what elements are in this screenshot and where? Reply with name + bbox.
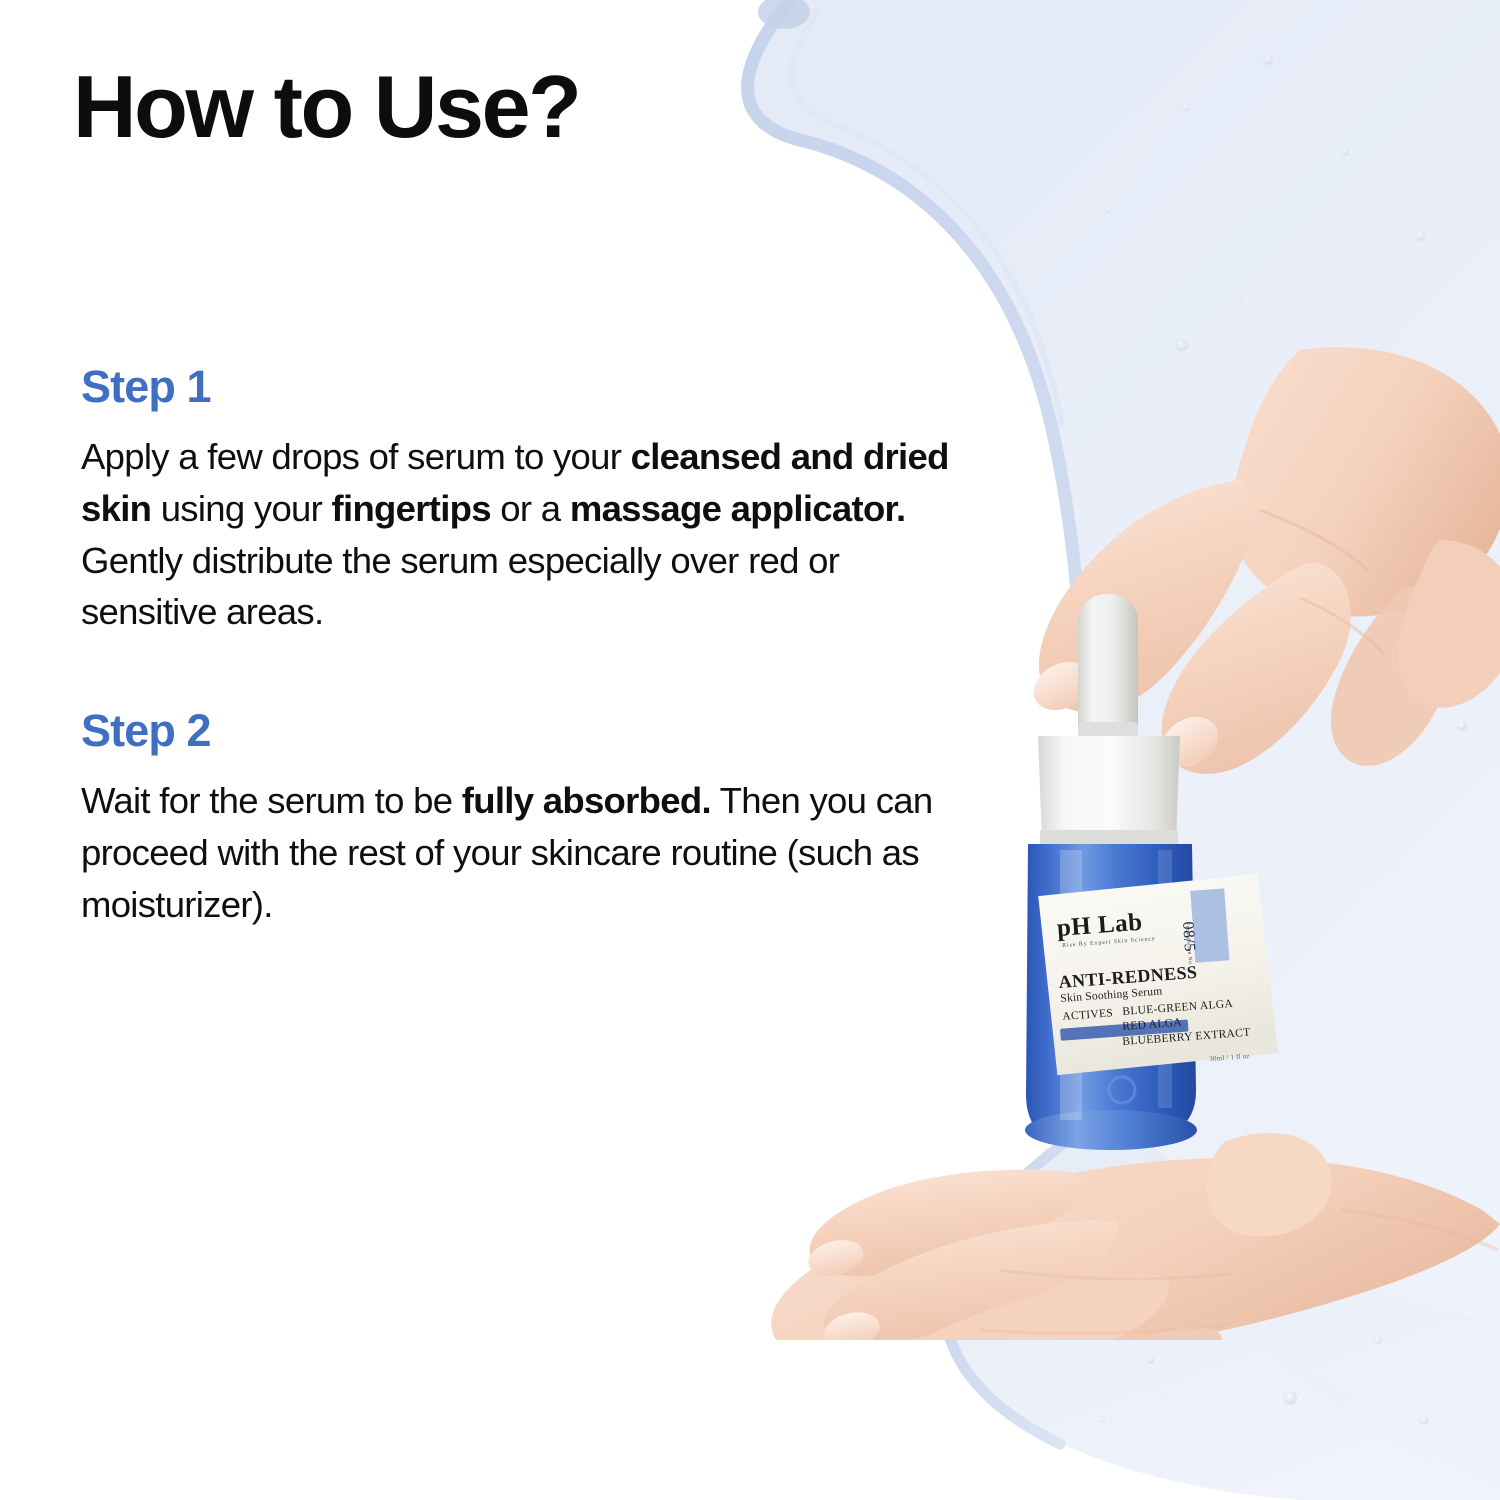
bottle-base (1025, 1110, 1197, 1150)
body-text: or a (491, 488, 570, 529)
infographic-canvas: How to Use? Step 1 Apply a few drops of … (0, 0, 1500, 1500)
lower-hand (771, 1133, 1500, 1340)
emphasized-text: fully absorbed. (462, 780, 711, 821)
label-batch-tab (1190, 888, 1229, 962)
body-text: using your (151, 488, 331, 529)
bottle-cap-base (1040, 830, 1178, 846)
body-text: Gently distribute the serum especially o… (81, 540, 839, 633)
product-illustration-svg (740, 330, 1500, 1340)
label-paper (1038, 873, 1279, 1075)
body-text: Wait for the serum to be (81, 780, 462, 821)
dropper-bulb (1078, 594, 1138, 734)
bottle-label (1038, 873, 1279, 1075)
page-title: How to Use? (73, 63, 580, 151)
body-text: Apply a few drops of serum to your (81, 436, 631, 477)
bottle-cap (1038, 736, 1180, 842)
emphasized-text: fingertips (332, 488, 491, 529)
product-photo (740, 330, 1500, 1340)
gel-droplet-top (758, 0, 810, 29)
